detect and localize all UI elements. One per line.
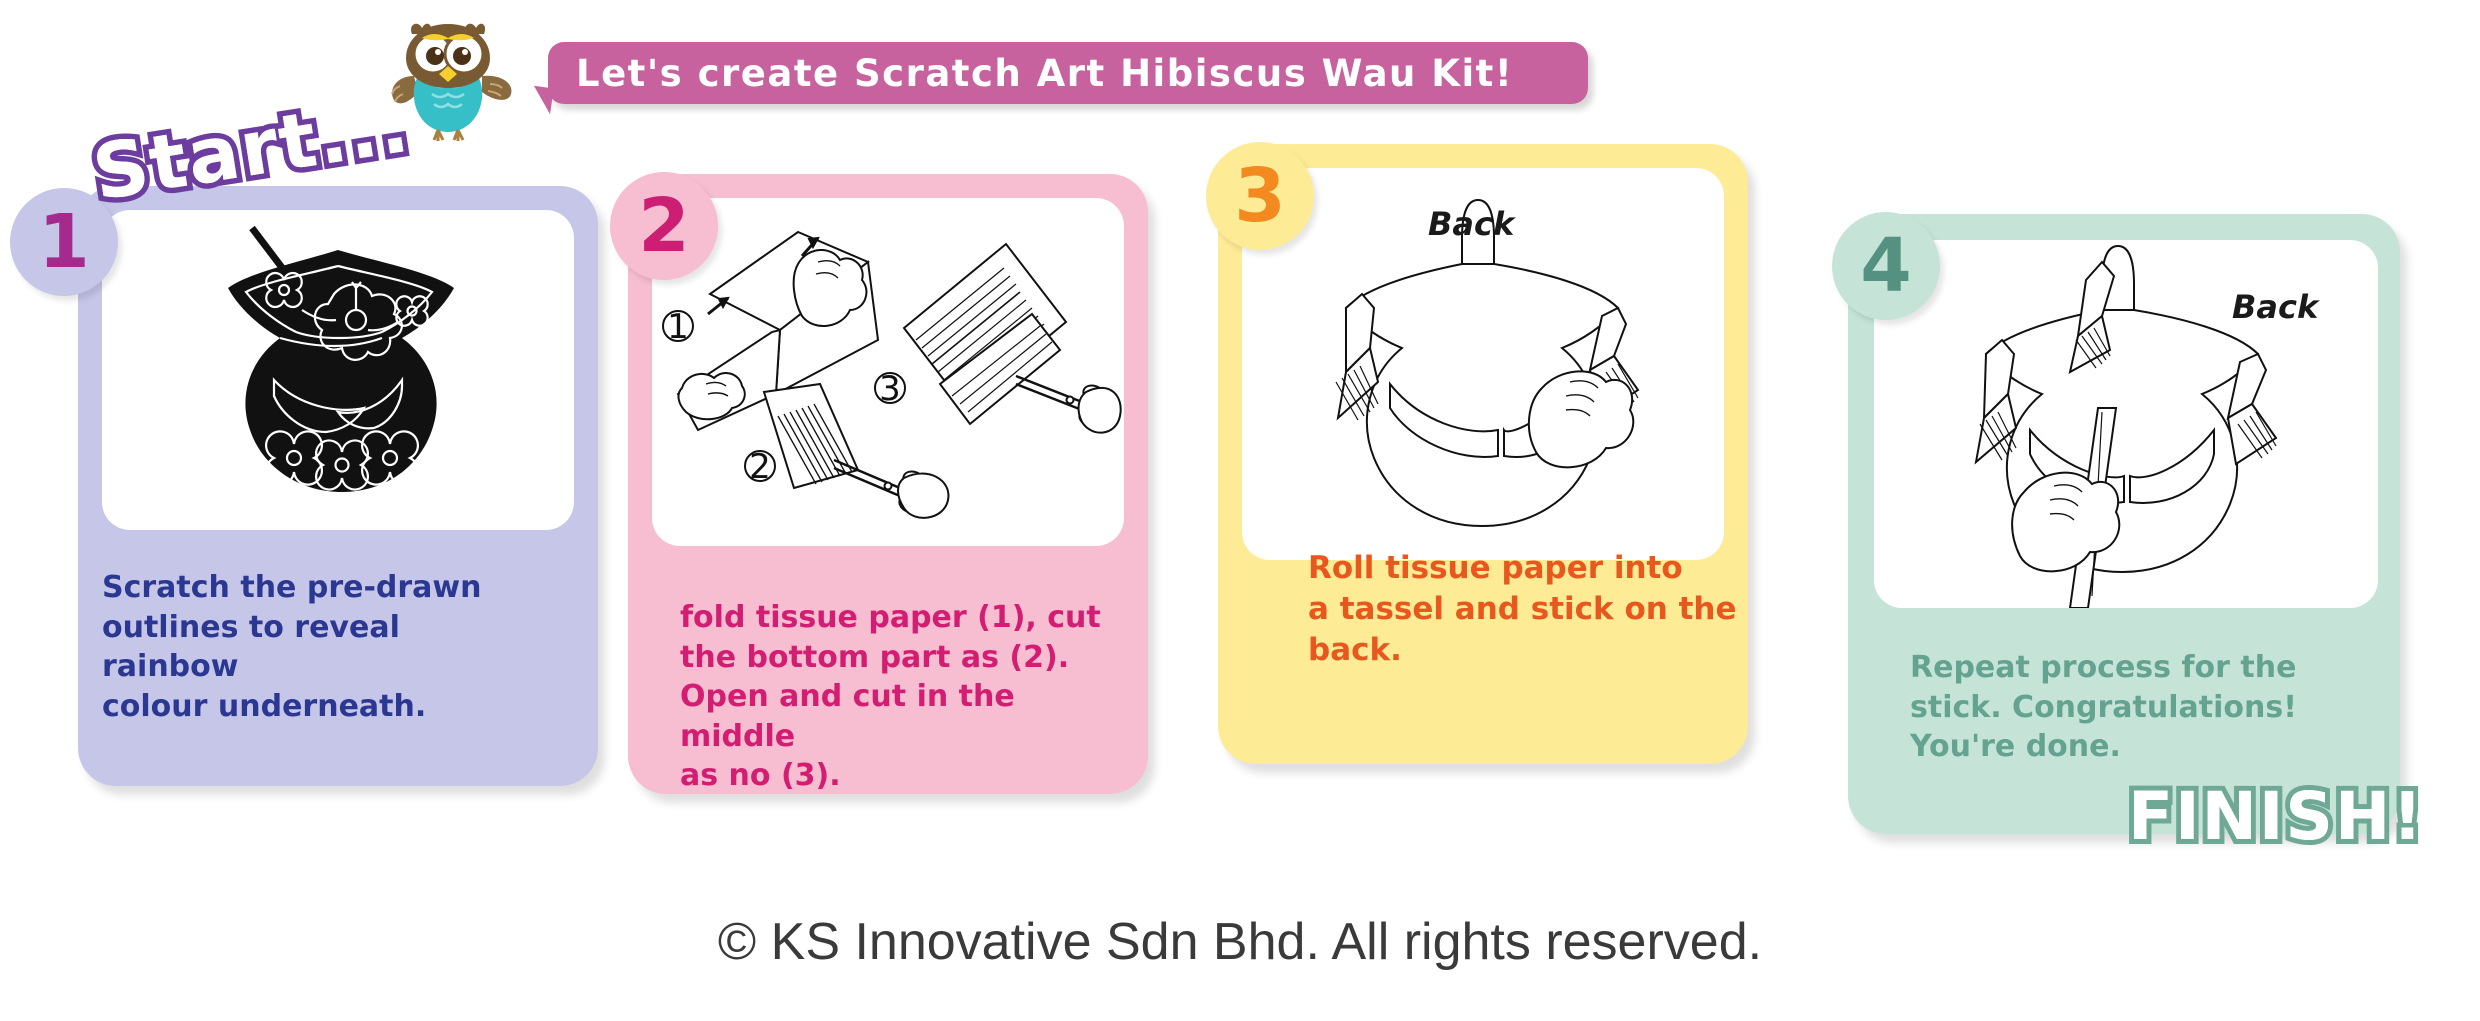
substep-label-1: 1: [667, 307, 689, 347]
step-caption-3: Roll tissue paper into a tassel and stic…: [1308, 548, 1766, 671]
step-caption-1: Scratch the pre-drawn outlines to reveal…: [102, 568, 542, 726]
substep-label-3: 3: [879, 369, 901, 409]
substep-label-2: 2: [749, 447, 771, 487]
banner-tail: [530, 86, 553, 115]
page-title: Let's create Scratch Art Hibiscus Wau Ki…: [576, 52, 1513, 95]
step-caption-2: fold tissue paper (1), cut the bottom pa…: [680, 598, 1128, 796]
step-1-illustration-panel: [102, 210, 574, 530]
hands-folding-and-cutting-tissue-paper: 1 2 3: [652, 198, 1124, 546]
back-label-step-3: Back: [1428, 205, 1514, 243]
instruction-sheet: Start... Start...: [0, 0, 2480, 1021]
step-badge-4: 4: [1832, 212, 1940, 320]
title-banner: Let's create Scratch Art Hibiscus Wau Ki…: [548, 42, 1588, 104]
hibiscus-wau-scratch-art-silhouette: [102, 210, 574, 530]
step-caption-4: Repeat process for the stick. Congratula…: [1910, 648, 2378, 767]
copyright-footer: © KS Innovative Sdn Bhd. All rights rese…: [0, 912, 2480, 972]
step-2-illustration-panel: 1 2 3: [652, 198, 1124, 546]
step-badge-2: 2: [610, 172, 718, 280]
finish-badge: FINISH!: [2128, 778, 2424, 855]
step-badge-3: 3: [1206, 142, 1314, 250]
back-label-step-4: Back: [2232, 288, 2318, 326]
